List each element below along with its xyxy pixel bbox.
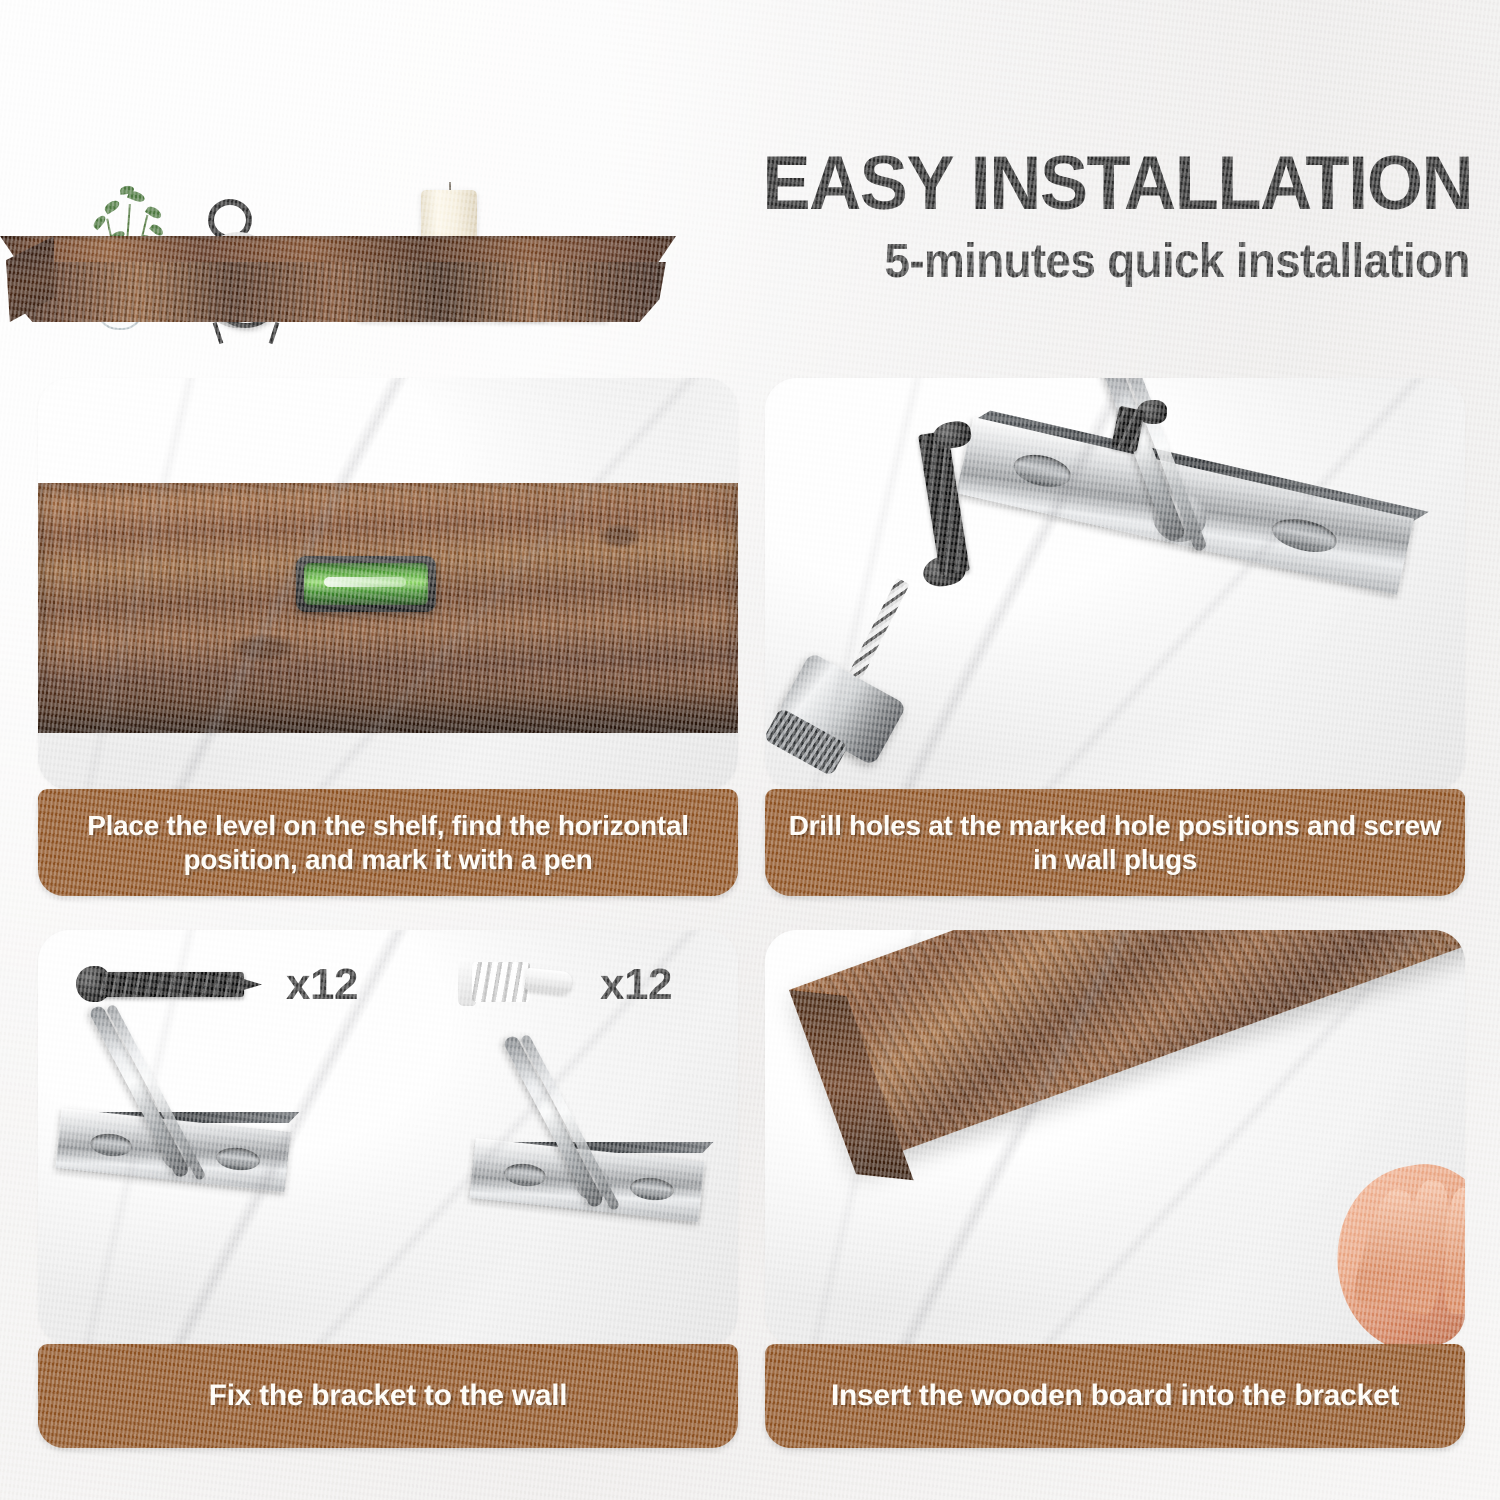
installation-steps-grid: Place the level on the shelf, find the h…: [0, 0, 1500, 1500]
screw-quantity: x12: [286, 960, 358, 1010]
step-3-caption: Fix the bracket to the wall: [38, 1344, 738, 1448]
step-2-caption: Drill holes at the marked hole positions…: [765, 789, 1465, 896]
step-2-photo: [765, 378, 1465, 790]
step-3-photo: x12 x12: [38, 930, 738, 1345]
step-card-1: Place the level on the shelf, find the h…: [38, 378, 738, 896]
step-4-photo: [765, 930, 1465, 1345]
step-card-3: x12 x12: [38, 930, 738, 1462]
step-1-caption: Place the level on the shelf, find the h…: [38, 789, 738, 896]
wall-bracket: [468, 1128, 738, 1345]
wall-plug-quantity: x12: [600, 960, 672, 1010]
step-card-2: Drill holes at the marked hole positions…: [765, 378, 1465, 896]
wall-bracket: [913, 386, 1448, 786]
step-4-caption: Insert the wooden board into the bracket: [765, 1344, 1465, 1448]
wall-bracket: [54, 1098, 344, 1328]
step-card-4: Insert the wooden board into the bracket: [765, 930, 1465, 1462]
